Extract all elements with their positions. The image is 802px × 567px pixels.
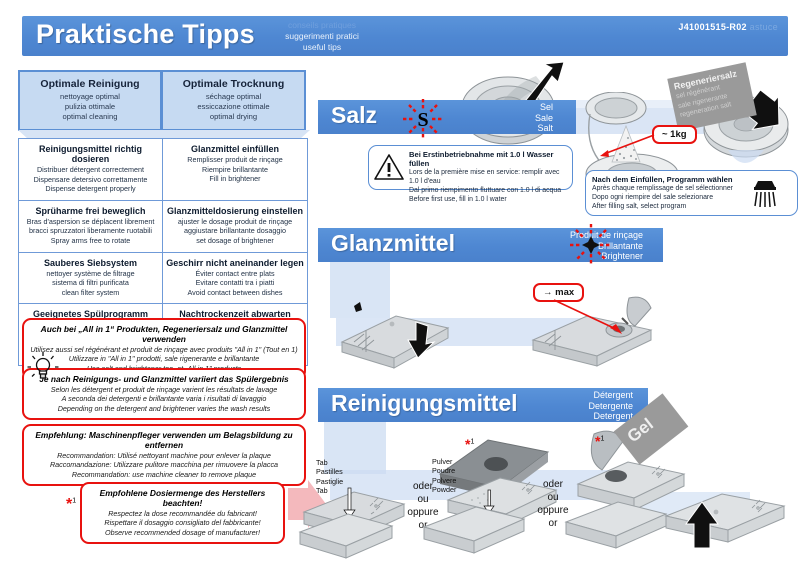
cell-en: Fill in brightener xyxy=(166,174,304,184)
warning-triangle-icon xyxy=(374,153,404,181)
tip-it: A seconda dei detergenti e brillantante … xyxy=(30,394,298,403)
left-column: Optimale Reinigung nettoyage optimal pul… xyxy=(18,70,308,131)
page-subtitle-en: useful tips xyxy=(257,42,387,53)
header-box-cleaning: Optimale Reinigung nettoyage optimal pul… xyxy=(18,70,162,131)
cell-en: Avoid contact between dishes xyxy=(166,288,304,298)
tab-label-fr: Pastilles xyxy=(316,467,343,476)
salt-band-subtitles: Sel Sale Salt xyxy=(463,102,553,134)
leaflet-page: Praktische Tipps conseils pratiques sugg… xyxy=(0,0,802,567)
rinse-max-leader-line xyxy=(540,298,630,340)
rinse-dispenser-open-illustration xyxy=(330,300,460,372)
tip-box-dosage: Empfohlene Dosiermenge des Herstellers b… xyxy=(80,482,285,544)
table-cell: Glanzmitteldosierung einstellen ajuster … xyxy=(163,201,307,252)
table-row: Reinigungsmittel richtig dosieren Distri… xyxy=(19,139,307,201)
detergent-tab-closed-illustration xyxy=(296,512,396,560)
tab-label-en: Tab xyxy=(316,486,343,495)
footnote-number: 1 xyxy=(72,498,76,505)
salt-weight-leader-line xyxy=(600,132,656,160)
tip-title: Auch bei „All in 1“ Produkten, Regenerie… xyxy=(30,324,298,344)
salt-band-title: Salz xyxy=(331,102,377,129)
header-box-cleaning-it: pulizia ottimale xyxy=(22,102,158,112)
tip-box-varies-result: Je nach Reinigungs- und Glanzmittel vari… xyxy=(22,368,306,420)
header-box-cleaning-en: optimal cleaning xyxy=(22,112,158,122)
lightbulb-icon xyxy=(26,350,60,384)
header-box-drying-fr: séchage optimal xyxy=(165,92,302,102)
detergent-gel-closed-illustration xyxy=(562,500,672,552)
or-de: oder xyxy=(530,478,576,491)
spray-program-icon xyxy=(748,176,782,210)
table-row: Sprüharme frei beweglich Bras d'aspersio… xyxy=(19,201,307,253)
tip-title: Je nach Reinigungs- und Glanzmittel vari… xyxy=(30,374,298,384)
salt-band-it: Sale xyxy=(463,113,553,124)
detergent-band-it: Detergente xyxy=(503,401,633,412)
footnote-number: 1 xyxy=(600,435,604,442)
page-subtitle-it: suggerimenti pratici xyxy=(257,31,387,42)
cell-it: Evitare contatti tra i piatti xyxy=(166,278,304,288)
header-box-cleaning-title: Optimale Reinigung xyxy=(22,78,158,90)
table-cell: Geschirr nicht aneinander legen Éviter c… xyxy=(163,253,307,304)
cell-fr: ajuster le dosage produit de rinçage xyxy=(166,217,304,227)
tip-fr: Respectez la dose recommandée du fabrica… xyxy=(88,509,277,518)
detergent-band-subtitles: Détergent Detergente Detergent xyxy=(503,390,633,422)
tip-fr: Selon les détergent et produit de rinçag… xyxy=(30,385,298,394)
cell-en: Dispense detergent properly xyxy=(22,184,159,194)
cell-en: set dosage of brightener xyxy=(166,236,304,246)
tip-it: Rispettare il dosaggio consigliato del f… xyxy=(88,518,277,527)
salt-section-band: Salz Sel Sale Salt xyxy=(318,100,576,134)
tab-label-de: Tab xyxy=(316,458,343,467)
salt-after-title: Nach dem Einfüllen, Programm wählen xyxy=(592,175,751,184)
cell-it: aggiustare brillantante dosaggio xyxy=(166,226,304,236)
header-box-drying: Optimale Trocknung séchage optimal essic… xyxy=(162,70,306,131)
tip-en: Observe recommended dosage of manufactur… xyxy=(88,528,277,537)
cell-title: Glanzmittel einfüllen xyxy=(166,144,304,154)
cell-en: clean filter system xyxy=(22,288,159,298)
cell-title: Sauberes Siebsystem xyxy=(22,258,159,268)
cell-it: bracci spruzzatori liberamente ruotabili xyxy=(22,226,159,236)
salt-band-fr: Sel xyxy=(463,102,553,113)
cell-fr: Distribuer détergent correctement xyxy=(22,165,159,175)
header-box-drying-en: optimal drying xyxy=(165,112,302,122)
detergent-section-band: Reinigungsmittel Détergent Detergente De… xyxy=(318,388,648,422)
tip-fr: Recommandation: Utilisé nettoyant machin… xyxy=(30,451,298,460)
tip-en: Depending on the detergent and brightene… xyxy=(30,404,298,413)
cell-fr: Éviter contact entre plats xyxy=(166,269,304,279)
salt-after-fr: Après chaque remplissage de sel sélectio… xyxy=(592,184,751,193)
detergent-powder-label: Pulver Poudre Polvere Powder xyxy=(432,457,456,495)
table-cell: Sauberes Siebsystem nettoyer système de … xyxy=(19,253,163,304)
page-header-bar: Praktische Tipps conseils pratiques sugg… xyxy=(22,16,788,56)
salt-band-en: Salt xyxy=(463,123,553,134)
document-code-faint: astuce xyxy=(750,22,778,32)
detergent-band-title: Reinigungsmittel xyxy=(331,390,518,417)
page-title: Praktische Tipps xyxy=(36,19,255,50)
cell-title: Glanzmitteldosierung einstellen xyxy=(166,206,304,216)
cell-title: Sprüharme frei beweglich xyxy=(22,206,159,216)
table-cell: Reinigungsmittel richtig dosieren Distri… xyxy=(19,139,163,200)
footnote-asterisk: *1 xyxy=(66,496,76,514)
rinse-sparkle-icon xyxy=(568,222,614,268)
salt-warn-title: Bei Erstinbetriebnahme mit 1.0 l Wasser … xyxy=(409,150,566,168)
document-code-value: J41001515-R02 xyxy=(678,22,746,32)
powder-label-de: Pulver xyxy=(432,457,456,466)
salt-after-en: After filling salt, select program xyxy=(592,202,751,211)
salt-warn-fr: Lors de la première mise en service: rem… xyxy=(409,168,566,186)
detergent-closed-final-illustration xyxy=(660,486,800,558)
cell-fr: Bras d'aspersion se déplacent librement xyxy=(22,217,159,227)
powder-label-fr: Poudre xyxy=(432,466,456,475)
cell-fr: nettoyer système de filtrage xyxy=(22,269,159,279)
rinse-band-title: Glanzmittel xyxy=(331,230,455,257)
tip-it: Raccomandazione: Utilizzare pulitore mac… xyxy=(30,460,298,469)
footnote-number: 1 xyxy=(470,438,474,445)
table-cell: Sprüharme frei beweglich Bras d'aspersio… xyxy=(19,201,163,252)
gel-footnote-asterisk: *1 xyxy=(595,433,604,449)
tip-title: Empfohlene Dosiermenge des Herstellers b… xyxy=(88,488,277,508)
powder-label-it: Polvere xyxy=(432,476,456,485)
tab-label-it: Pastiglie xyxy=(316,477,343,486)
powder-footnote-asterisk: *1 xyxy=(465,436,474,452)
tip-box-machine-cleaner: Empfehlung: Maschinenpfleger verwenden u… xyxy=(22,424,306,486)
detergent-powder-closed-illustration xyxy=(420,505,530,557)
detergent-tab-label: Tab Pastilles Pastiglie Tab xyxy=(316,458,343,496)
header-box-cleaning-fr: nettoyage optimal xyxy=(22,92,158,102)
cell-fr: Remplisser produit de rinçage xyxy=(166,155,304,165)
salt-warn-en: Before first use, fill in 1.0 l water xyxy=(409,195,566,204)
tip-it: Utilizzare in "All in 1" prodotti, sale … xyxy=(30,354,298,363)
table-cell: Glanzmittel einfüllen Remplisser produit… xyxy=(163,139,307,200)
tip-title: Empfehlung: Maschinenpfleger verwenden u… xyxy=(30,430,298,450)
document-code: J41001515-R02 astuce xyxy=(678,22,778,32)
tip-fr: Utilisez aussi sel régénérant et produit… xyxy=(30,345,298,354)
cell-en: Spray arms free to rotate xyxy=(22,236,159,246)
salt-warn-it: Dal primo riempimento fluttuare con 1.0 … xyxy=(409,186,566,195)
page-subtitle-group: conseils pratiques suggerimenti pratici … xyxy=(257,20,387,53)
powder-label-en: Powder xyxy=(432,485,456,494)
header-box-drying-it: essiccazione ottimale xyxy=(165,102,302,112)
cell-it: Riempire brillantante xyxy=(166,165,304,175)
optimal-headers: Optimale Reinigung nettoyage optimal pul… xyxy=(18,70,308,131)
cell-it: sistema di filtri purificata xyxy=(22,278,159,288)
svg-text:S: S xyxy=(417,109,428,131)
page-subtitle-fr: conseils pratiques xyxy=(257,20,387,31)
cell-it: Dispensare detersivo correttamente xyxy=(22,175,159,185)
salt-after-it: Dopo ogni riempire del sale selezionare xyxy=(592,193,751,202)
salt-sparkle-icon: S xyxy=(400,96,446,142)
tip-en: Recommandation: use machine cleaner to r… xyxy=(30,470,298,479)
detergent-band-en: Detergent xyxy=(503,411,633,422)
table-row: Sauberes Siebsystem nettoyer système de … xyxy=(19,253,307,305)
detergent-band-fr: Détergent xyxy=(503,390,633,401)
salt-weight-label: ~ 1kg xyxy=(652,125,697,144)
cell-title: Geschirr nicht aneinander legen xyxy=(166,258,304,268)
cell-title: Reinigungsmittel richtig dosieren xyxy=(22,144,159,164)
header-box-drying-title: Optimale Trocknung xyxy=(165,78,302,90)
